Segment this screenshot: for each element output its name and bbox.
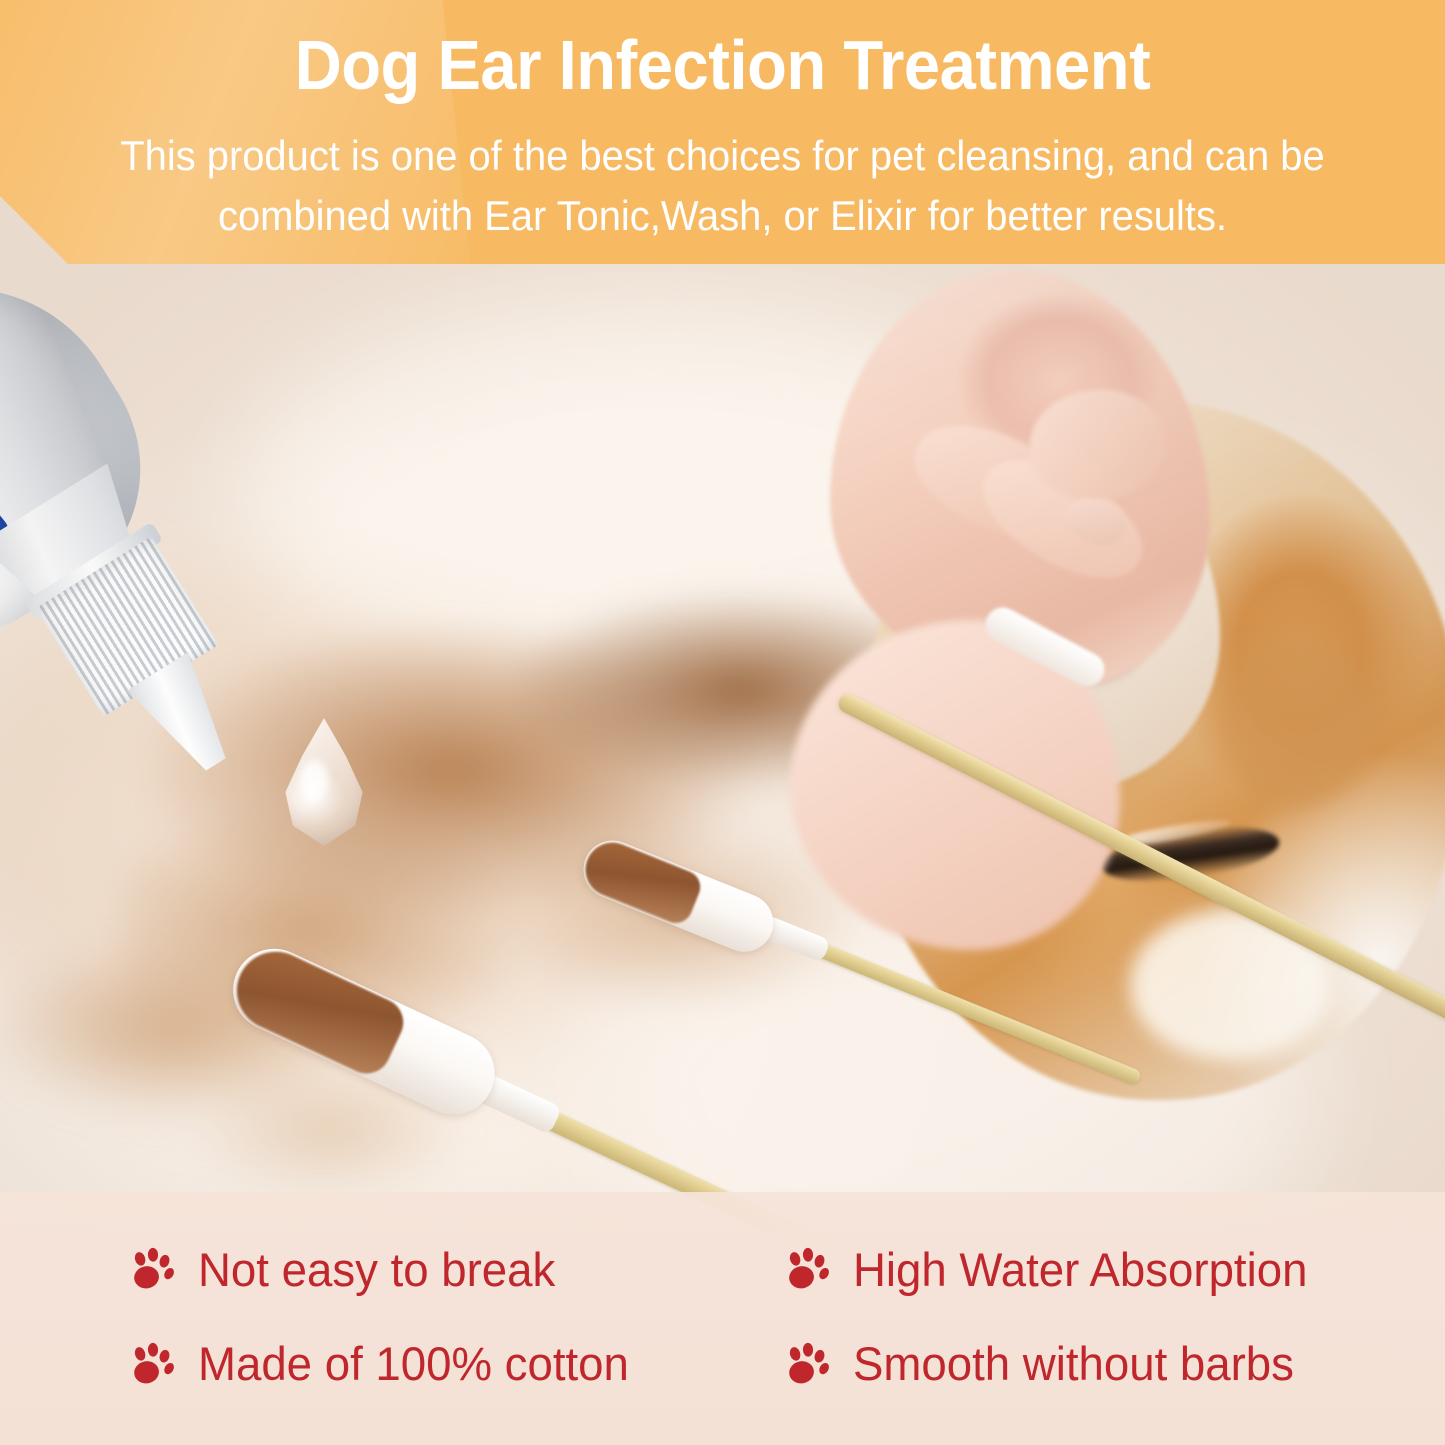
paw-print-icon [785, 1246, 831, 1292]
feature-label: Made of 100% cotton [198, 1336, 629, 1391]
feature-grid: Not easy to break High Water Absorption [0, 1192, 1445, 1445]
page-subtitle: This product is one of the best choices … [89, 126, 1355, 245]
liquid-drop-highlight [300, 760, 328, 800]
feature-panel: Not easy to break High Water Absorption [0, 1192, 1445, 1445]
feature-label: High Water Absorption [853, 1242, 1307, 1297]
feature-item: Not easy to break [130, 1222, 785, 1317]
header-banner: Dog Ear Infection Treatment This product… [0, 0, 1445, 264]
product-marketing-image: Dog Ear Infection Treatment This product… [0, 0, 1445, 1445]
page-title: Dog Ear Infection Treatment [51, 30, 1395, 101]
feature-label: Not easy to break [198, 1242, 555, 1297]
paw-print-icon [130, 1246, 176, 1292]
dog-fur-patch [1220, 630, 1370, 810]
feature-item: High Water Absorption [785, 1222, 1445, 1317]
feature-item: Smooth without barbs [785, 1317, 1445, 1412]
paw-print-icon [130, 1341, 176, 1387]
paw-print-icon [785, 1341, 831, 1387]
feature-item: Made of 100% cotton [130, 1317, 785, 1412]
feature-label: Smooth without barbs [853, 1336, 1294, 1391]
